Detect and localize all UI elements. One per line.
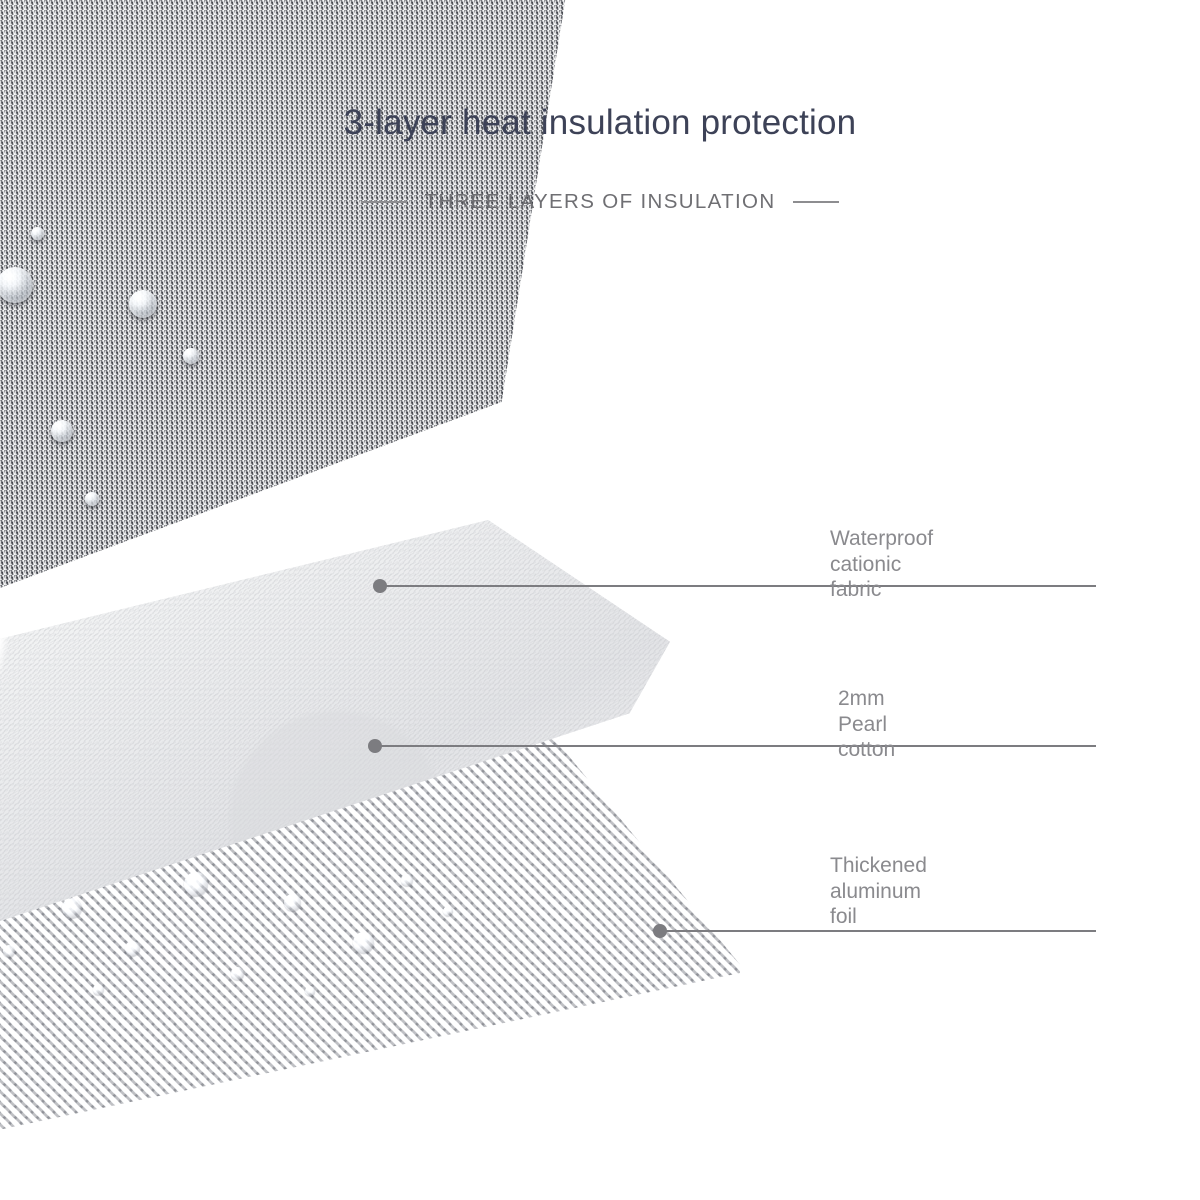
page-subtitle: THREE LAYERS OF INSULATION — [424, 190, 775, 214]
callout-leader-line — [375, 745, 1096, 747]
callout-label: 2mm Pearl cotton — [838, 686, 895, 763]
layered-fabric-photo — [0, 0, 760, 1200]
subtitle-row: THREE LAYERS OF INSULATION — [0, 190, 1200, 214]
subtitle-dash-left — [361, 201, 407, 203]
subtitle-dash-right — [793, 201, 839, 203]
page-title: 3-layer heat insulation protection — [0, 103, 1200, 143]
callout-leader-line — [380, 585, 1096, 587]
callout-leader-line — [660, 930, 1096, 932]
callout-label: Thickened aluminum foil — [830, 853, 927, 930]
infographic-canvas: 3-layer heat insulation protection THREE… — [0, 0, 1200, 1200]
callout-label: Waterproof cationic fabric — [830, 526, 933, 603]
